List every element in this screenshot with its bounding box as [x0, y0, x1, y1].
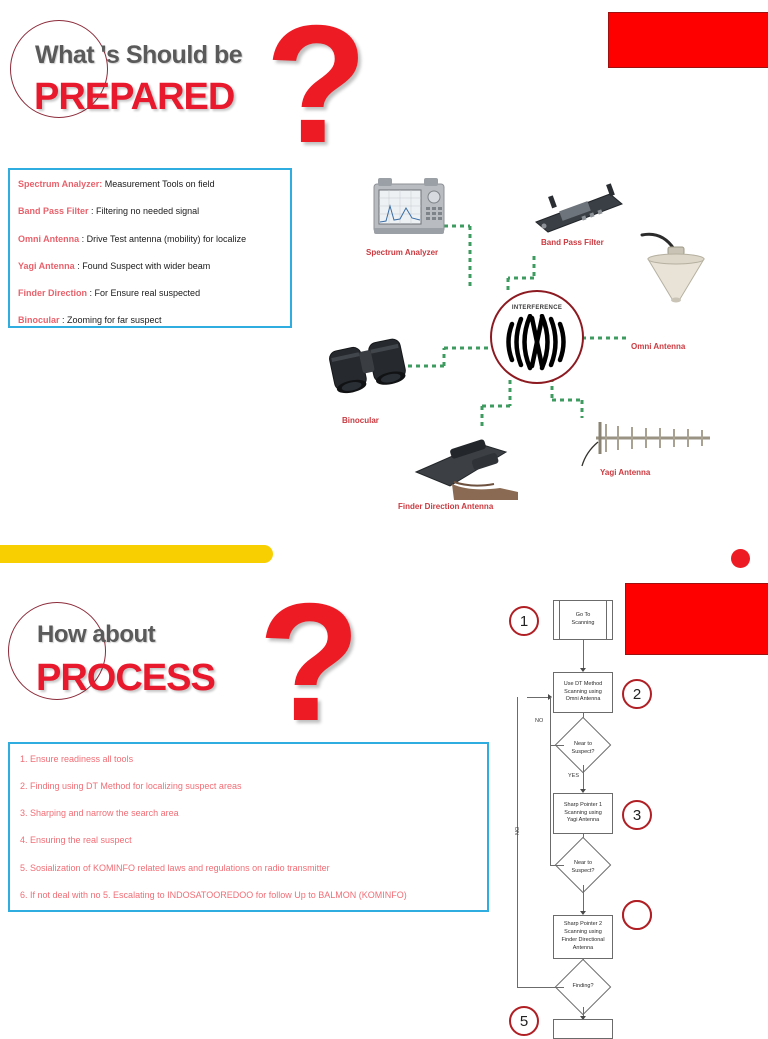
list-item: Finder Direction : For Ensure real suspe… [18, 288, 282, 299]
detection-process-flowchart: 1 Go To Scanning 2 Use DT Method Scannin… [495, 595, 675, 1024]
heading1-line2: PREPARED [34, 76, 234, 119]
flow-connector [517, 987, 564, 988]
tool-name: Binocular [18, 315, 60, 325]
flow-connector [550, 745, 564, 746]
list-item: 6. If not deal with no 5. Escalating to … [20, 889, 477, 901]
yellow-divider-bar [0, 545, 273, 563]
tool-name: Yagi Antenna [18, 261, 75, 271]
flow-edge-label-yes: YES [568, 773, 579, 779]
band-pass-filter-image [530, 182, 626, 238]
tool-desc: Measurement Tools on field [102, 179, 214, 189]
tool-desc: : For Ensure real suspected [87, 288, 200, 298]
heading1-line1: What 's Should be [35, 41, 242, 70]
list-item: 5. Sosialization of KOMINFO related laws… [20, 862, 477, 874]
question-mark-icon: ? [258, 578, 361, 746]
tool-desc: : Drive Test antenna (mobility) for loca… [79, 234, 246, 244]
equipment-interference-diagram: Spectrum Analyzer Band Pass Filter Omni … [320, 168, 768, 520]
flow-node-text: Go To Scanning [572, 612, 595, 628]
omni-antenna-image [630, 223, 720, 313]
flow-step-number-2: 2 [622, 679, 652, 709]
list-item: Yagi Antenna : Found Suspect with wider … [18, 261, 282, 272]
process-steps-box: 1. Ensure readiness all tools 2. Finding… [8, 742, 489, 912]
list-item: 3. Sharping and narrow the search area [20, 807, 477, 819]
list-item: 4. Ensuring the real suspect [20, 834, 477, 846]
heading2-line1: How about [37, 621, 155, 649]
diagram-label-omni-antenna: Omni Antenna [631, 342, 685, 351]
red-dot-decoration [731, 549, 750, 568]
flow-node-sharp-pointer-1: Sharp Pointer 1 Scanning using Yagi Ante… [553, 793, 613, 834]
flow-node-text: Use DT Method Scanning using Omni Antenn… [564, 681, 602, 705]
tool-name: Spectrum Analyzer: [18, 179, 102, 189]
diagram-label-spectrum-analyzer: Spectrum Analyzer [366, 248, 438, 257]
interference-signal-icon [492, 314, 580, 374]
flow-step-number-3: 3 [622, 800, 652, 830]
tool-desc: : Found Suspect with wider beam [75, 261, 211, 271]
flow-edge-label-no-2: NO [515, 827, 521, 835]
spectrum-analyzer-image [370, 176, 448, 238]
list-item: 1. Ensure readiness all tools [20, 753, 477, 765]
flow-node-bottom-cutoff [553, 1019, 613, 1039]
flow-connector [583, 765, 584, 791]
tools-list-box: Spectrum Analyzer: Measurement Tools on … [8, 168, 292, 328]
flow-node-text: Sharp Pointer 2 Scanning using Finder Di… [561, 921, 604, 953]
diagram-label-finder-direction-antenna: Finder Direction Antenna [398, 502, 493, 511]
binocular-image [328, 336, 414, 398]
interference-node: INTERFERENCE [490, 290, 584, 384]
tool-name: Omni Antenna [18, 234, 79, 244]
flow-connector [583, 640, 584, 670]
diagram-label-yagi-antenna: Yagi Antenna [600, 468, 650, 477]
flow-node-use-dt-method: Use DT Method Scanning using Omni Antenn… [553, 672, 613, 713]
list-item: 2. Finding using DT Method for localizin… [20, 780, 477, 792]
flow-node-go-to-scanning: Go To Scanning [553, 600, 613, 640]
flow-edge-label-no-1: NO [535, 718, 543, 724]
flow-connector [550, 865, 564, 866]
list-item: Omni Antenna : Drive Test antenna (mobil… [18, 234, 282, 245]
flow-step-number-1: 1 [509, 606, 539, 636]
tool-name: Finder Direction [18, 288, 87, 298]
tool-desc: : Filtering no needed signal [89, 206, 200, 216]
tool-name: Band Pass Filter [18, 206, 89, 216]
flow-node-sharp-pointer-2: Sharp Pointer 2 Scanning using Finder Di… [553, 915, 613, 959]
flow-step-number-5: 5 [509, 1006, 539, 1036]
heading2-line2: PROCESS [36, 657, 215, 700]
diagram-label-binocular: Binocular [342, 416, 379, 425]
list-item: Binocular : Zooming for far suspect [18, 315, 282, 326]
tool-desc: : Zooming for far suspect [60, 315, 162, 325]
list-item: Spectrum Analyzer: Measurement Tools on … [18, 179, 282, 190]
flow-connector [550, 697, 551, 865]
interference-label: INTERFERENCE [492, 305, 582, 311]
finder-direction-antenna-image [410, 430, 530, 500]
flow-connector [583, 885, 584, 913]
diagram-label-band-pass-filter: Band Pass Filter [541, 238, 604, 247]
flow-connector [517, 697, 518, 987]
list-item: Band Pass Filter : Filtering no needed s… [18, 206, 282, 217]
question-mark-icon: ? [265, 0, 368, 168]
flow-node-text: Sharp Pointer 1 Scanning using Yagi Ante… [564, 802, 602, 826]
redacted-logo-block-top [608, 12, 768, 68]
